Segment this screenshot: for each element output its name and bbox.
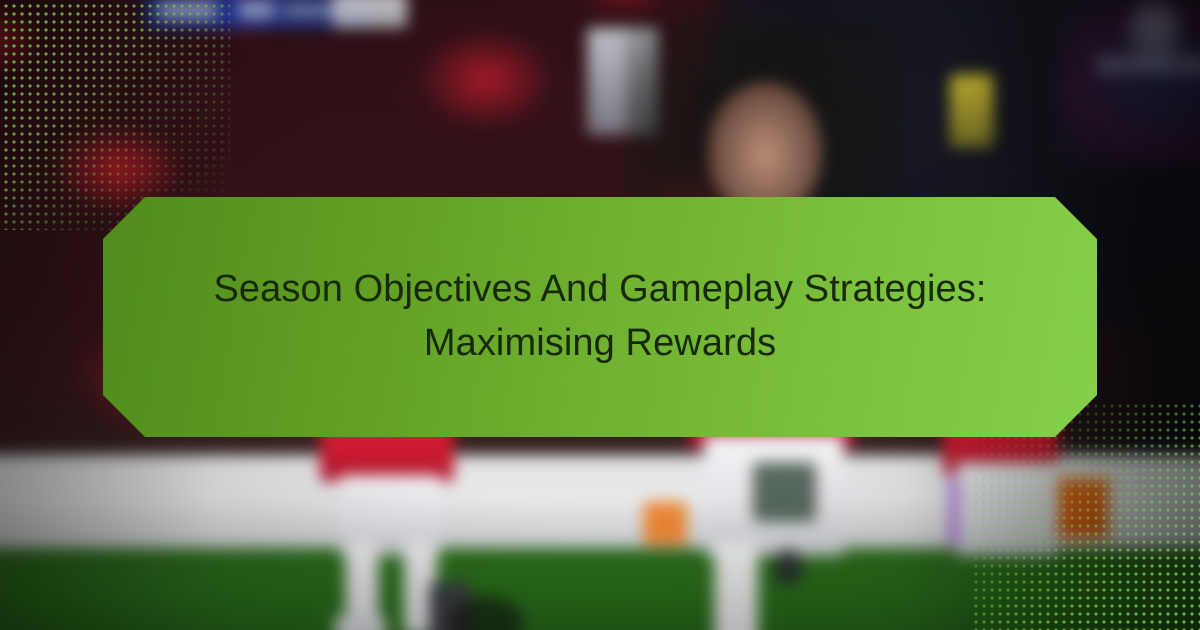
title-banner: Season Objectives And Gameplay Strategie… bbox=[103, 197, 1097, 437]
social-share-card: Season Objectives And Gameplay Strategie… bbox=[0, 0, 1200, 630]
page-title: Season Objectives And Gameplay Strategie… bbox=[205, 263, 995, 371]
